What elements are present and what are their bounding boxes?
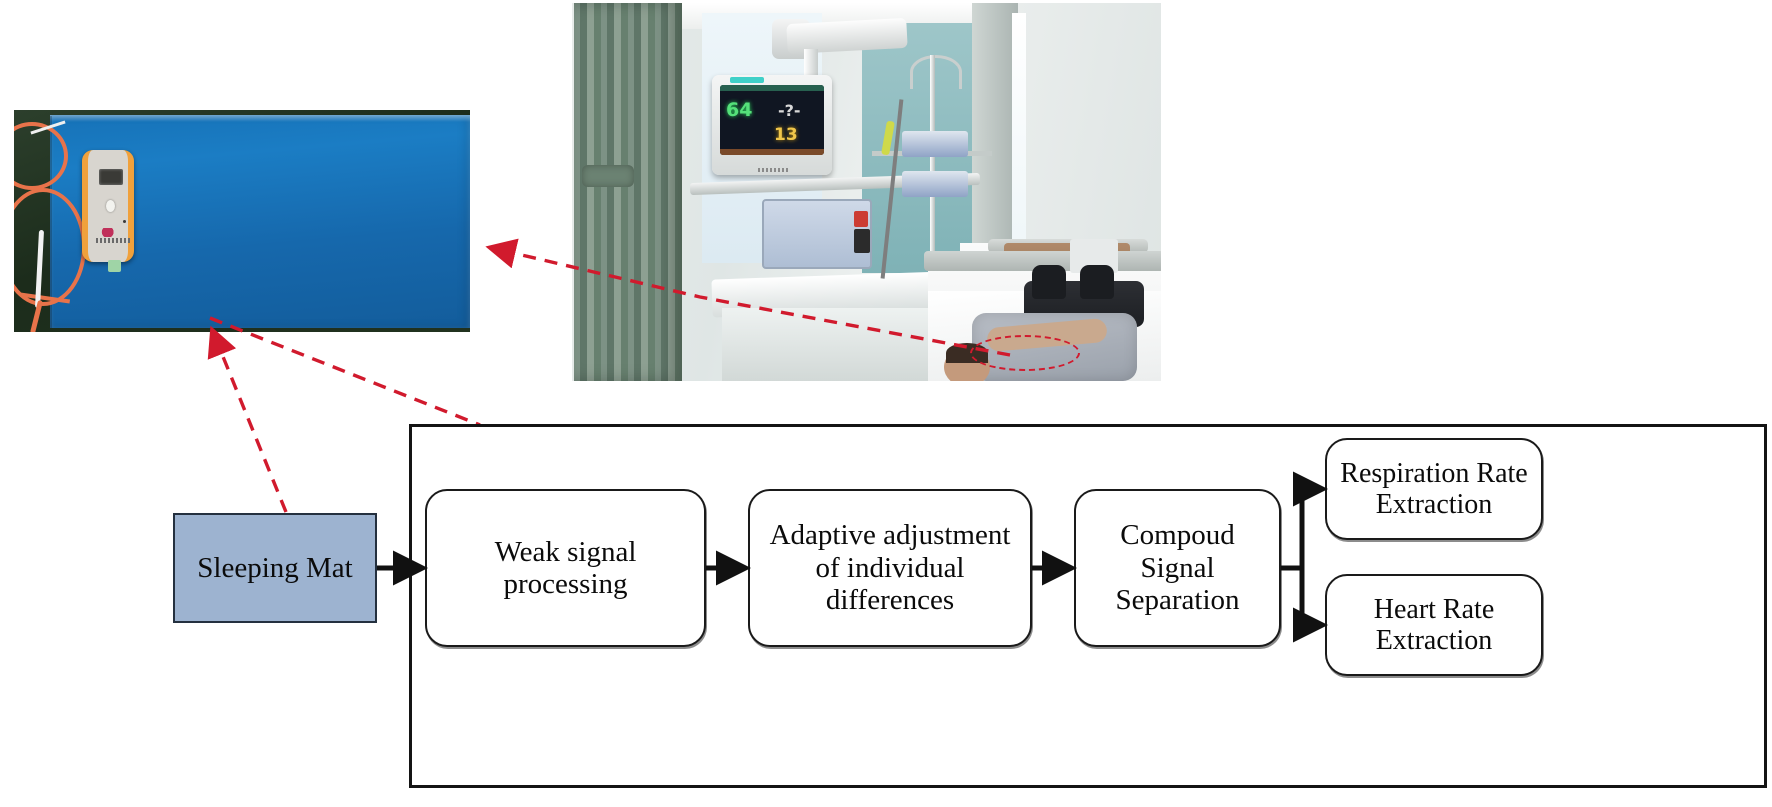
flow-node-heart-rate-extraction-label: Heart Rate Extraction [1327, 594, 1541, 657]
room-privacy-curtain [574, 3, 682, 381]
flow-node-compound-signal-separation[interactable]: Compoud Signal Separation [1074, 489, 1281, 647]
patient-foot-right [1080, 265, 1114, 299]
device-logo-icon [100, 228, 122, 237]
flow-node-adaptive-adjustment-label: Adaptive adjustment of individual differ… [750, 519, 1030, 616]
iv-pole-hook-icon [910, 55, 962, 89]
infusion-pump-upper [902, 131, 968, 157]
flow-node-heart-rate-extraction[interactable]: Heart Rate Extraction [1325, 574, 1543, 676]
flow-node-weak-signal-processing-label: Weak signal processing [427, 536, 704, 601]
device-led-icon [123, 220, 126, 223]
vital-signs-monitor: 64 -?- 13 [712, 75, 832, 175]
connector-matphoto-to-pipeline [210, 318, 480, 425]
sleeping-mat-photo [14, 110, 470, 332]
flow-node-respiration-rate-extraction-label: Respiration Rate Extraction [1327, 458, 1541, 521]
infusion-pump-lower [902, 171, 968, 197]
monitor-screen-topbar [720, 85, 824, 91]
flow-node-respiration-rate-extraction[interactable]: Respiration Rate Extraction [1325, 438, 1543, 540]
device-power-button-icon [106, 200, 115, 212]
flow-node-compound-signal-separation-label: Compoud Signal Separation [1076, 519, 1279, 616]
monitor-respiration-value: 13 [774, 125, 798, 145]
monitor-heart-rate-value: 64 [726, 99, 752, 121]
flow-node-weak-signal-processing[interactable]: Weak signal processing [425, 489, 706, 647]
flow-node-adaptive-adjustment[interactable]: Adaptive adjustment of individual differ… [748, 489, 1032, 647]
equipment-dark-module [854, 229, 870, 253]
monitor-top-bezel-strip [730, 77, 764, 83]
room-light-strip [1012, 13, 1026, 263]
monitor-blood-pressure-value: -?- [778, 101, 801, 120]
equipment-red-indicator-icon [854, 211, 868, 227]
mat-sensor-device [82, 150, 134, 262]
device-display-icon [99, 169, 123, 185]
monitor-screen-botbar [720, 149, 824, 155]
figure-canvas: 64 -?- 13 [0, 0, 1772, 807]
equipment-cart-body [722, 308, 952, 381]
monitor-screen: 64 -?- 13 [720, 85, 824, 155]
patient-mat-highlight-ellipse [970, 335, 1080, 371]
connector-matbox-to-matphoto [213, 332, 286, 512]
device-usb-plug-icon [108, 260, 121, 272]
flow-node-sleeping-mat[interactable]: Sleeping Mat [173, 513, 377, 623]
flow-node-sleeping-mat-label: Sleeping Mat [197, 552, 352, 585]
monitor-brand-text-icon [758, 168, 790, 172]
curtain-tieback [582, 165, 634, 187]
hospital-room-photo: 64 -?- 13 [572, 3, 1161, 381]
device-brand-text-icon [96, 238, 130, 243]
patient-foot-left [1032, 265, 1066, 299]
